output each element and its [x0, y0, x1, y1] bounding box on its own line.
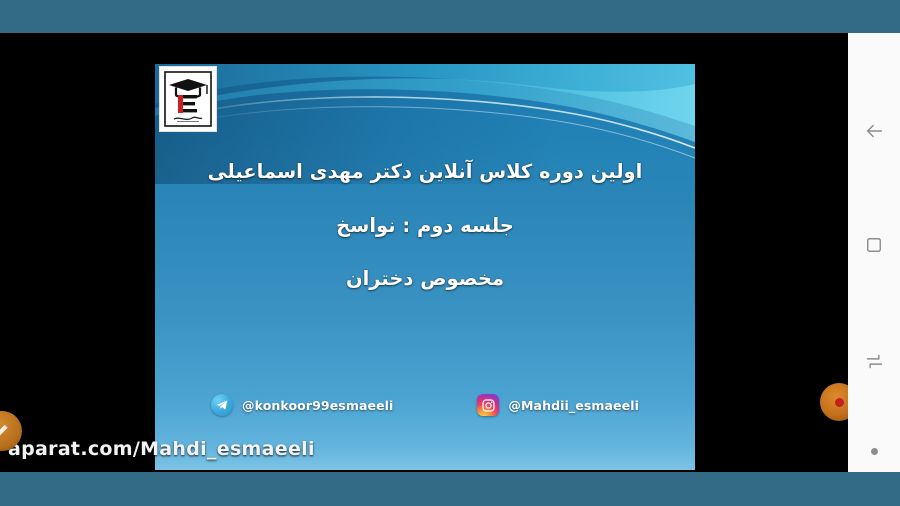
aparat-watermark: aparat.com/Mahdi_esmaeeli — [8, 438, 315, 460]
switch-app-button[interactable] — [848, 341, 900, 383]
slide-text-block: اولین دوره کلاس آنلاین دکتر مهدی اسماعیل… — [155, 160, 695, 290]
home-button[interactable] — [848, 431, 900, 473]
presentation-slide: اولین دوره کلاس آنلاین دکتر مهدی اسماعیل… — [155, 64, 695, 470]
instagram-icon — [477, 394, 499, 416]
slide-title-line-1: اولین دوره کلاس آنلاین دکتر مهدی اسماعیل… — [155, 160, 695, 183]
logo-mark — [164, 71, 212, 127]
back-icon — [863, 120, 885, 142]
device-screen: اولین دوره کلاس آنلاین دکتر مهدی اسماعیل… — [0, 0, 900, 506]
slide-title-line-3: مخصوص دختران — [155, 267, 695, 290]
graduation-cap-icon — [164, 71, 212, 127]
slide-title-line-2: جلسه دوم : نواسخ — [155, 214, 695, 237]
social-row: @konkoor99esmaeeli @Mahdii_esmaeeli — [155, 394, 695, 416]
logo-badge — [159, 66, 217, 132]
recents-button[interactable] — [848, 225, 900, 267]
instagram-handle-group: @Mahdii_esmaeeli — [477, 394, 639, 416]
telegram-handle-text: @konkoor99esmaeeli — [242, 398, 393, 413]
bottom-chrome-bar — [0, 472, 900, 506]
switch-app-icon — [864, 351, 885, 372]
home-icon — [871, 448, 878, 455]
status-bar — [0, 0, 900, 33]
telegram-handle-group: @konkoor99esmaeeli — [211, 394, 393, 416]
record-indicator-dot — [835, 398, 844, 407]
instagram-handle-text: @Mahdii_esmaeeli — [508, 398, 639, 413]
telegram-icon — [211, 394, 233, 416]
back-button[interactable] — [848, 110, 900, 152]
video-stage[interactable]: اولین دوره کلاس آنلاین دکتر مهدی اسماعیل… — [0, 33, 900, 472]
android-nav-panel — [848, 33, 900, 472]
pen-icon — [0, 422, 11, 440]
recents-icon — [864, 235, 884, 255]
